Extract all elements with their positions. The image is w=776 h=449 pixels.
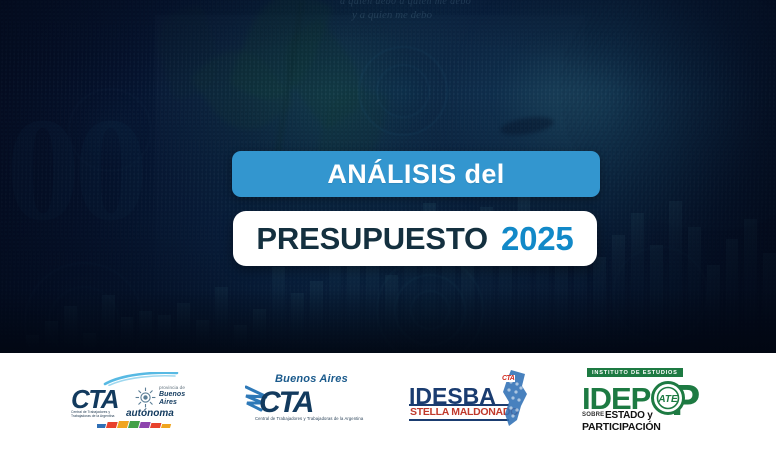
logo-tagline: autónoma — [126, 408, 174, 419]
logo-idesba: IDESBA STELLA MALDONADO CTA — [409, 372, 535, 430]
logo-cta-autonoma: CTA provincia de Buenos Aires Central de… — [69, 370, 201, 432]
logo-line1-small: SOBRE — [582, 412, 604, 418]
color-stripe-icon — [97, 421, 175, 429]
title-line-1: ANÁLISIS del — [327, 159, 504, 190]
logo-fullname: Central de Trabajadores y Trabajadoras d… — [255, 416, 363, 421]
poster-root: 00 a quien debo a quien me debo y a quie… — [0, 0, 776, 449]
logo-province-block: provincia de Buenos Aires — [159, 385, 201, 408]
title-year: 2025 — [501, 220, 574, 258]
logo-province-main: Buenos Aires — [159, 391, 201, 409]
logo-top-text: INSTITUTO DE ESTUDIOS — [587, 368, 683, 377]
logo-top-text: Buenos Aires — [275, 373, 348, 385]
logo-badge: CTA — [501, 375, 515, 382]
title-banner-secondary: PRESUPUESTO 2025 — [233, 211, 597, 266]
logo-fullname: Central de Trabajadores y Trabajadoras d… — [71, 410, 127, 419]
ate-badge-icon: ATE — [651, 381, 685, 415]
logo-acronym: CTA — [259, 386, 312, 420]
sun-gear-icon — [135, 387, 156, 408]
title-line-2-word: PRESUPUESTO — [256, 221, 488, 257]
logo-idep: INSTITUTO DE ESTUDIOS P IDEP ATE SOBRE E… — [579, 368, 707, 434]
logo-province-small: provincia de — [159, 385, 185, 390]
logo-cta-buenos-aires: Buenos Aires CTA Central de Trabajadores… — [245, 372, 365, 430]
logo-line2-bold: PARTICIPACIÓN — [582, 421, 661, 433]
svg-text:ATE: ATE — [657, 394, 678, 405]
footer-logo-strip: CTA provincia de Buenos Aires Central de… — [0, 353, 776, 449]
hero-banner: 00 a quien debo a quien me debo y a quie… — [0, 0, 776, 353]
title-banner-primary: ANÁLISIS del — [232, 151, 600, 197]
logo-line1-bold: ESTADO y — [605, 410, 653, 421]
